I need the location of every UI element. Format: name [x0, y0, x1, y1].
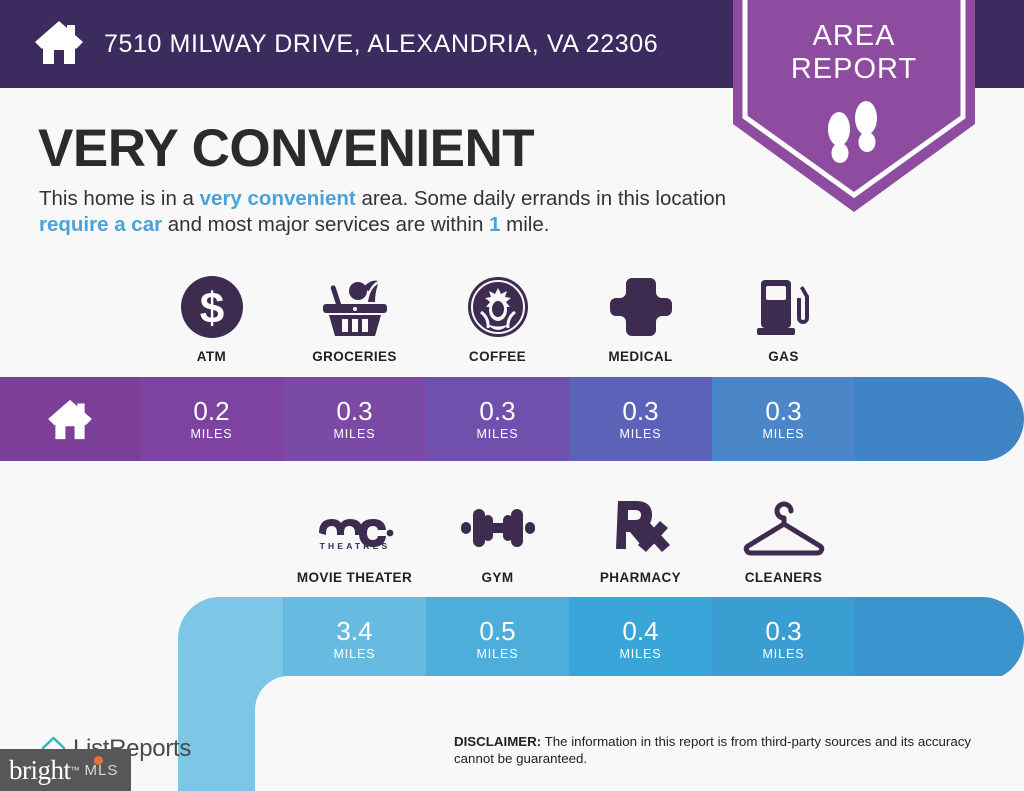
property-address: 7510 MILWAY DRIVE, ALEXANDRIA, VA 22306: [104, 30, 658, 59]
bar-cell-atm: 0.2 MILES: [140, 377, 283, 461]
area-report-page: 7510 MILWAY DRIVE, ALEXANDRIA, VA 22306 …: [0, 0, 1024, 791]
distance-unit: MILES: [619, 427, 661, 441]
category-label: ATM: [197, 349, 226, 364]
summary-part-2: area. Some daily errands in this locatio…: [356, 187, 726, 210]
gas-pump-icon: [753, 276, 815, 338]
distance-value: 0.3: [479, 397, 515, 425]
category-label: PHARMACY: [600, 570, 681, 585]
svg-text:THEATRES: THEATRES: [319, 541, 390, 551]
category-gas: GAS: [712, 276, 855, 364]
bar-home-cell: [0, 377, 140, 461]
category-gym: GYM: [426, 497, 569, 585]
dumbbell-icon: [459, 497, 537, 559]
distance-unit: MILES: [762, 427, 804, 441]
home-icon: [34, 19, 84, 70]
bar-cell-gas: 0.3 MILES: [712, 377, 855, 461]
distance-unit: MILES: [190, 427, 232, 441]
distance-value: 0.3: [765, 397, 801, 425]
header: 7510 MILWAY DRIVE, ALEXANDRIA, VA 22306: [34, 0, 658, 88]
distance-value: 3.4: [336, 617, 372, 645]
category-atm: $ ATM: [140, 276, 283, 364]
distance-unit: MILES: [333, 647, 375, 661]
category-groceries: GROCERIES: [283, 276, 426, 364]
bar-cell-medical: 0.3 MILES: [569, 377, 712, 461]
category-label: COFFEE: [469, 349, 526, 364]
bar-tail-secondary: [855, 597, 1024, 681]
distance-unit: MILES: [476, 647, 518, 661]
category-movie-theater: THEATRES MOVIE THEATER: [283, 497, 426, 585]
category-medical: MEDICAL: [569, 276, 712, 364]
summary-part-0: This home is in a: [39, 187, 200, 210]
distance-bar-primary: 0.2 MILES 0.3 MILES 0.3 MILES 0.3 MILES …: [0, 377, 1024, 461]
medical-cross-icon: [610, 276, 672, 338]
bar-cell-movie-theater: 3.4 MILES: [283, 597, 426, 681]
starbucks-siren-icon: [467, 276, 529, 338]
category-label: MEDICAL: [608, 349, 672, 364]
amc-theatres-icon: THEATRES: [313, 497, 397, 559]
bright-wordmark: bright: [9, 755, 71, 786]
rx-icon: [612, 497, 670, 559]
distance-value: 0.3: [765, 617, 801, 645]
distance-unit: MILES: [333, 427, 375, 441]
category-label: GAS: [768, 349, 798, 364]
bar-cell-pharmacy: 0.4 MILES: [569, 597, 712, 681]
icon-row-secondary: THEATRES MOVIE THEATER: [283, 497, 855, 585]
distance-value: 0.5: [479, 617, 515, 645]
distance-unit: MILES: [619, 647, 661, 661]
bright-dot-icon: [94, 756, 103, 765]
distance-bar-secondary: 3.4 MILES 0.5 MILES 0.4 MILES 0.3 MILES: [178, 597, 1024, 681]
area-report-banner: AREA REPORT: [733, 0, 975, 212]
bar-cell-coffee: 0.3 MILES: [426, 377, 569, 461]
summary-text: This home is in a very convenient area. …: [39, 186, 729, 238]
dollar-circle-icon: $: [181, 276, 243, 338]
category-cleaners: CLEANERS: [712, 497, 855, 585]
distance-unit: MILES: [476, 427, 518, 441]
category-pharmacy: PHARMACY: [569, 497, 712, 585]
distance-value: 0.3: [336, 397, 372, 425]
svg-text:$: $: [199, 284, 223, 333]
distance-value: 0.2: [193, 397, 229, 425]
icon-row-primary: $ ATM: [140, 276, 855, 364]
bar-lead-secondary: [178, 597, 283, 681]
distance-unit: MILES: [762, 647, 804, 661]
category-label: GYM: [482, 570, 514, 585]
summary-part-5: 1: [489, 213, 500, 236]
category-label: GROCERIES: [312, 349, 397, 364]
category-label: CLEANERS: [745, 570, 822, 585]
category-label: MOVIE THEATER: [297, 570, 412, 585]
summary-part-6: mile.: [500, 213, 549, 236]
bar-cell-cleaners: 0.3 MILES: [712, 597, 855, 681]
grocery-basket-icon: [321, 276, 389, 338]
hanger-icon: [742, 497, 826, 559]
bright-mls-label: MLS: [85, 762, 119, 779]
bright-tm: ™: [71, 765, 80, 775]
summary-part-1: very convenient: [200, 187, 356, 210]
bar-cell-groceries: 0.3 MILES: [283, 377, 426, 461]
bar-cell-gym: 0.5 MILES: [426, 597, 569, 681]
disclaimer-label: DISCLAIMER:: [454, 734, 541, 749]
distance-value: 0.4: [622, 617, 658, 645]
category-coffee: COFFEE: [426, 276, 569, 364]
home-icon: [47, 398, 93, 440]
page-title: VERY CONVENIENT: [38, 118, 534, 179]
bar-tail-primary: [855, 377, 1024, 461]
bright-mls-watermark: bright ™ MLS: [0, 749, 131, 791]
summary-part-3: require a car: [39, 213, 162, 236]
distance-value: 0.3: [622, 397, 658, 425]
summary-part-4: and most major services are within: [162, 213, 489, 236]
disclaimer: DISCLAIMER: The information in this repo…: [454, 733, 994, 767]
